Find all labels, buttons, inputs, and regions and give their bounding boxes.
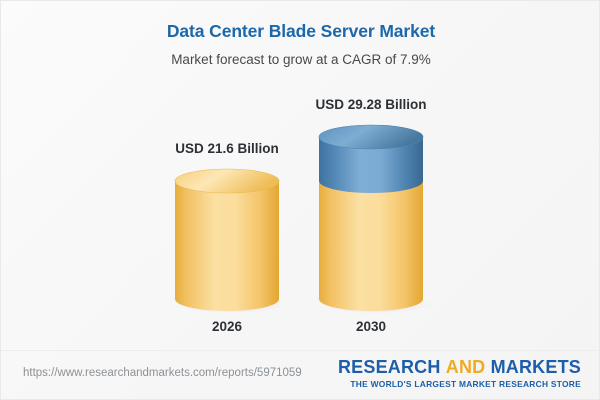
bar-value-label-2030: USD 29.28 Billion [313, 97, 429, 112]
footer-divider [1, 350, 600, 351]
brand-word-markets: MARKETS [491, 357, 581, 377]
brand-word-and: AND [446, 357, 486, 377]
brand-word-research: RESEARCH [338, 357, 441, 377]
chart-plot-area: USD 21.6 Billion [1, 1, 600, 346]
cylinder-2026[interactable] [169, 167, 285, 315]
source-url[interactable]: https://www.researchandmarkets.com/repor… [23, 367, 302, 379]
brand-logo-wordmark: RESEARCH AND MARKETS [338, 358, 581, 376]
brand-logo[interactable]: RESEARCH AND MARKETS THE WORLD'S LARGEST… [338, 358, 581, 388]
bar-category-label-2026: 2026 [169, 319, 285, 334]
bar-group-2030: USD 29.28 Billion [313, 1, 429, 346]
brand-logo-tagline: THE WORLD'S LARGEST MARKET RESEARCH STOR… [338, 380, 581, 388]
infographic-canvas: Data Center Blade Server Market Market f… [0, 0, 600, 400]
bar-group-2026: USD 21.6 Billion [169, 1, 285, 346]
bar-category-label-2030: 2030 [313, 319, 429, 334]
cylinder-2030[interactable] [313, 123, 429, 315]
bar-value-label-2026: USD 21.6 Billion [169, 141, 285, 156]
